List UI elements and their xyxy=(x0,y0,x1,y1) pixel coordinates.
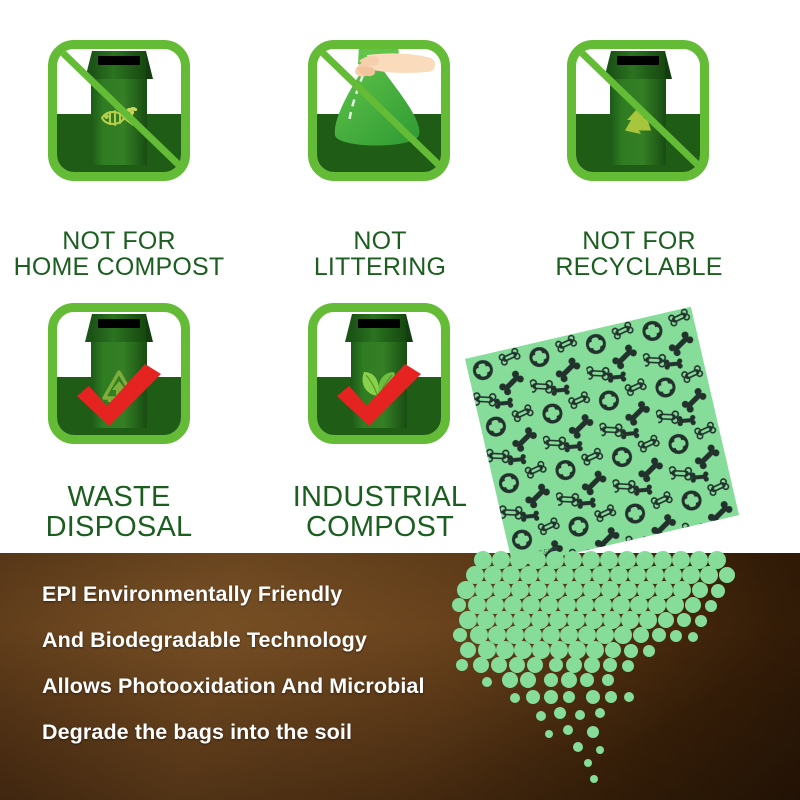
caption-not-littering: NOT LITTERING xyxy=(250,228,510,280)
bin-slot xyxy=(358,319,400,328)
red-check-icon xyxy=(333,362,425,433)
badge-frame xyxy=(308,40,450,181)
bin-slot xyxy=(617,56,659,65)
caption-not-for-recyclable: NOT FOR RECYCLABLE xyxy=(509,228,769,280)
badge-frame xyxy=(567,40,709,181)
soil-message-line-1: EPI Environmentally Friendly xyxy=(42,582,425,607)
hand-icon xyxy=(355,54,435,77)
red-check-icon xyxy=(73,362,165,433)
caption-not-for-home-compost: NOT FOR HOME COMPOST xyxy=(0,228,249,280)
badge-frame xyxy=(308,303,450,444)
badge-frame xyxy=(48,303,190,444)
soil-message-line-2: And Biodegradable Technology xyxy=(42,628,425,653)
badge-frame xyxy=(48,40,190,181)
soil-message: EPI Environmentally Friendly And Biodegr… xyxy=(42,582,425,766)
caption-waste-disposal: WASTE DISPOSAL xyxy=(0,482,249,542)
caption-industrial-compost: INDUSTRIAL COMPOST xyxy=(250,482,510,542)
bin-slot xyxy=(98,56,140,65)
poster: NOT FOR HOME COMPOST xyxy=(0,0,800,800)
soil-message-line-4: Degrade the bags into the soil xyxy=(42,720,425,745)
bin-slot xyxy=(98,319,140,328)
soil-message-line-3: Allows Photooxidation And Microbial xyxy=(42,674,425,699)
